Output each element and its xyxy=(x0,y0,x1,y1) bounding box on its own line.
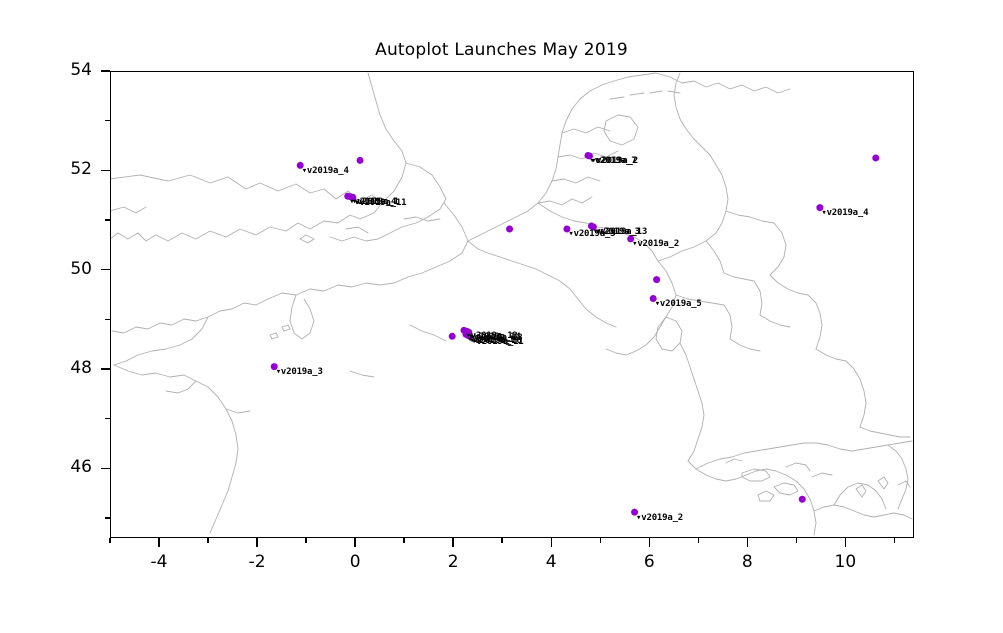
launch-point-marker xyxy=(449,333,456,340)
y-axis-tick-major xyxy=(101,170,110,171)
x-axis-tick-label: -2 xyxy=(237,552,277,572)
y-axis-tick-major xyxy=(101,70,110,71)
y-axis-tick-label: 52 xyxy=(52,159,92,179)
x-axis-tick-label: -4 xyxy=(139,552,179,572)
y-axis-tick-major xyxy=(101,269,110,270)
y-axis-tick-label: 50 xyxy=(52,259,92,279)
figure-canvas: Autoplot Launches May 2019 xyxy=(0,0,1003,633)
x-axis-tick-label: 2 xyxy=(433,552,473,572)
x-axis-tick-major xyxy=(551,538,552,547)
x-axis-tick-minor xyxy=(207,538,208,543)
launch-point-label: ▾v2019a_11 xyxy=(354,198,406,208)
y-axis-tick-major xyxy=(101,468,110,469)
x-axis-tick-major xyxy=(354,538,355,547)
launch-point-label: ▾v2019a_2 xyxy=(636,513,683,523)
launch-point-label: ▾v2019a_2 xyxy=(591,156,638,166)
y-axis-tick-label: 46 xyxy=(52,457,92,477)
y-axis-tick-minor xyxy=(105,120,110,121)
launch-point-label: ▾v2019a_13 xyxy=(595,227,647,237)
y-axis-tick-label: 48 xyxy=(52,358,92,378)
y-axis-tick-minor xyxy=(105,319,110,320)
x-axis-tick-minor xyxy=(698,538,699,543)
x-axis-tick-minor xyxy=(600,538,601,543)
launch-point-label: ▾v2019a_4 xyxy=(821,208,868,218)
x-axis-tick-minor xyxy=(403,538,404,543)
x-axis-tick-major xyxy=(649,538,650,547)
launch-point-label: ▾v2019a_11 xyxy=(471,337,523,347)
y-axis-tick-minor xyxy=(105,517,110,518)
launch-point-marker xyxy=(872,154,879,161)
y-axis-tick-label: 54 xyxy=(52,60,92,80)
launch-point-label: ▾v2019a_3 xyxy=(276,367,323,377)
launch-point-marker xyxy=(799,496,806,503)
x-axis-tick-major xyxy=(845,538,846,547)
launch-point-marker xyxy=(653,276,660,283)
x-axis-tick-major xyxy=(452,538,453,547)
x-axis-tick-label: 4 xyxy=(531,552,571,572)
y-axis-tick-minor xyxy=(105,418,110,419)
launch-point-marker xyxy=(357,157,364,164)
x-axis-tick-label: 10 xyxy=(825,552,865,572)
launch-points-layer xyxy=(110,71,914,538)
y-axis-tick-major xyxy=(101,368,110,369)
launch-point-label: ▾v2019a_2 xyxy=(632,239,679,249)
map-plot-area: ▾v2019a_4▾v2019a_4▾v2019a_1▾v2019a_11▾v2… xyxy=(110,71,914,538)
x-axis-tick-major xyxy=(158,538,159,547)
x-axis-tick-major xyxy=(256,538,257,547)
x-axis-tick-minor xyxy=(796,538,797,543)
y-axis-tick-minor xyxy=(105,219,110,220)
x-axis-tick-label: 6 xyxy=(629,552,669,572)
x-axis-tick-major xyxy=(747,538,748,547)
x-axis-tick-minor xyxy=(894,538,895,543)
x-axis-tick-label: 8 xyxy=(727,552,767,572)
x-axis-tick-minor xyxy=(305,538,306,543)
launch-point-label: ▾v2019a_5 xyxy=(655,299,702,309)
launch-point-marker xyxy=(506,225,513,232)
x-axis-tick-minor xyxy=(109,538,110,543)
launch-point-label: ▾v2019a_4 xyxy=(302,166,349,176)
x-axis-tick-label: 0 xyxy=(335,552,375,572)
x-axis-tick-minor xyxy=(501,538,502,543)
page-title: Autoplot Launches May 2019 xyxy=(0,40,1003,60)
